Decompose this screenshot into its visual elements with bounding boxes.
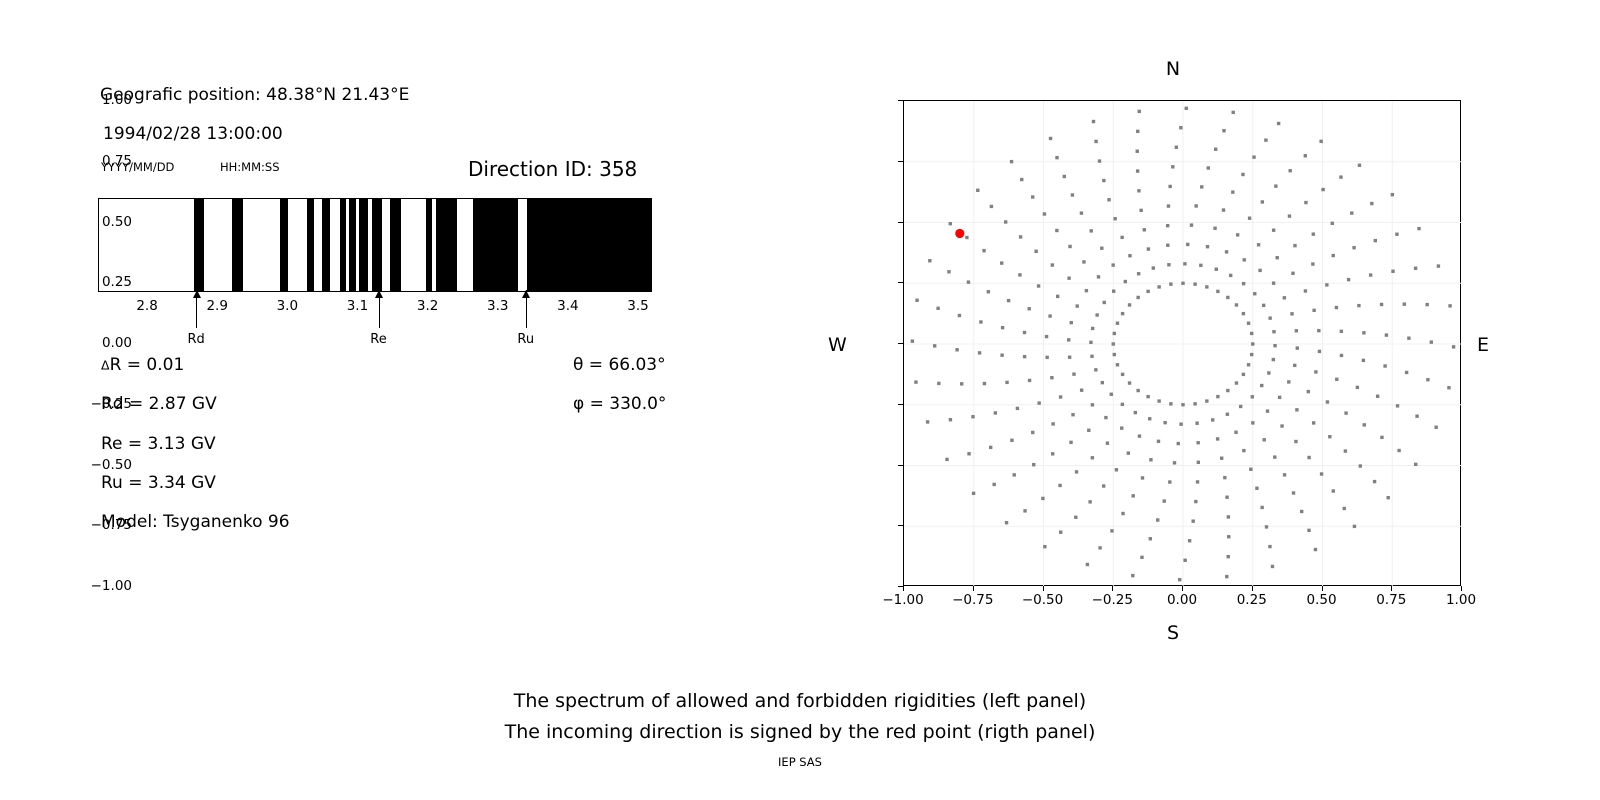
- direction-point: [1120, 426, 1123, 429]
- direction-point: [1304, 201, 1307, 204]
- direction-point: [1055, 156, 1058, 159]
- direction-point: [1137, 272, 1140, 275]
- direction-point: [1225, 575, 1228, 578]
- direction-point: [1018, 273, 1021, 276]
- direction-point: [1045, 335, 1048, 338]
- direction-point: [1251, 342, 1254, 345]
- direction-point: [1103, 301, 1106, 304]
- direction-point: [1426, 378, 1429, 381]
- direction-point: [1127, 451, 1130, 454]
- direction-point: [1247, 363, 1250, 366]
- direction-point: [1091, 327, 1094, 330]
- direction-point: [1307, 529, 1310, 532]
- direction-point: [1335, 306, 1338, 309]
- direction-point: [1186, 243, 1189, 246]
- direction-point: [1262, 438, 1265, 441]
- scatter-y-tick-label: −0.25: [91, 396, 132, 412]
- direction-point: [1136, 169, 1139, 172]
- direction-point: [1013, 473, 1016, 476]
- direction-point: [1143, 228, 1146, 231]
- direction-point: [1067, 338, 1070, 341]
- direction-point: [1205, 399, 1208, 402]
- direction-point: [976, 189, 979, 192]
- direction-point: [1146, 395, 1149, 398]
- direction-point: [1194, 204, 1197, 207]
- direction-point: [1448, 304, 1451, 307]
- scatter-y-tick-mark: [898, 465, 903, 466]
- direction-point: [1280, 424, 1283, 427]
- direction-point: [1116, 322, 1119, 325]
- scatter-y-tick-label: −1.00: [91, 578, 132, 594]
- direction-point: [1071, 193, 1074, 196]
- direction-point: [1185, 107, 1188, 110]
- direction-point: [1331, 222, 1334, 225]
- direction-point: [1227, 535, 1230, 538]
- direction-point: [1100, 247, 1103, 250]
- direction-point: [1136, 389, 1139, 392]
- direction-point: [1156, 518, 1159, 521]
- direction-point: [1140, 556, 1143, 559]
- direction-point: [1131, 494, 1134, 497]
- direction-point: [1343, 507, 1346, 510]
- direction-point: [1141, 476, 1144, 479]
- scatter-x-tick-mark: [903, 586, 904, 591]
- compass-west: W: [828, 334, 847, 356]
- direction-point: [1147, 247, 1150, 250]
- scatter-y-tick-mark: [898, 100, 903, 101]
- scatter-x-tick-mark: [1461, 586, 1462, 591]
- direction-point: [1314, 548, 1317, 551]
- direction-point: [1362, 331, 1365, 334]
- direction-point: [1166, 244, 1169, 247]
- direction-point: [1332, 489, 1335, 492]
- direction-point: [1417, 227, 1420, 230]
- direction-point: [1395, 233, 1398, 236]
- direction-point: [1414, 267, 1417, 270]
- direction-point: [1288, 169, 1291, 172]
- direction-point: [1101, 381, 1104, 384]
- direction-point: [1376, 395, 1379, 398]
- direction-point: [1175, 146, 1178, 149]
- direction-point: [1168, 185, 1171, 188]
- direction-point: [1167, 263, 1170, 266]
- scatter-y-tick-mark: [898, 525, 903, 526]
- scatter-x-tick-label: −0.75: [952, 592, 993, 608]
- direction-point: [1252, 155, 1255, 158]
- scatter-x-tick-mark: [1182, 586, 1183, 591]
- scatter-x-tick-mark: [1322, 586, 1323, 591]
- direction-point: [1171, 165, 1174, 168]
- scatter-canvas: [904, 101, 1462, 587]
- direction-point: [1251, 421, 1254, 424]
- direction-point: [1232, 111, 1235, 114]
- direction-point: [1157, 285, 1160, 288]
- direction-point: [1102, 179, 1105, 182]
- direction-point: [1005, 381, 1008, 384]
- direction-point: [1320, 472, 1323, 475]
- direction-point: [955, 348, 958, 351]
- direction-point: [1339, 175, 1342, 178]
- direction-point: [1274, 184, 1277, 187]
- direction-point: [1048, 314, 1051, 317]
- direction-point: [1085, 289, 1088, 292]
- direction-point: [978, 351, 981, 354]
- direction-point: [1226, 296, 1229, 299]
- direction-point: [1216, 290, 1219, 293]
- direction-point: [1205, 285, 1208, 288]
- direction-point: [1124, 280, 1127, 283]
- direction-point: [947, 270, 950, 273]
- scatter-y-tick-mark: [898, 222, 903, 223]
- direction-point: [1293, 364, 1296, 367]
- direction-point: [1206, 245, 1209, 248]
- direction-point: [1045, 356, 1048, 359]
- direction-point: [1216, 395, 1219, 398]
- direction-point: [1312, 421, 1315, 424]
- direction-point: [1031, 195, 1034, 198]
- direction-point: [1363, 423, 1366, 426]
- direction-point: [1258, 269, 1261, 272]
- direction-point: [1179, 422, 1182, 425]
- direction-point: [1225, 250, 1228, 253]
- direction-point: [1113, 332, 1116, 335]
- direction-point: [1325, 283, 1328, 286]
- direction-point: [1070, 321, 1073, 324]
- direction-point: [1098, 159, 1101, 162]
- direction-point: [1272, 228, 1275, 231]
- direction-point: [1168, 480, 1171, 483]
- direction-point: [1227, 515, 1230, 518]
- direction-point: [1177, 442, 1180, 445]
- direction-point: [1283, 296, 1286, 299]
- direction-point: [1278, 396, 1281, 399]
- direction-point: [1292, 491, 1295, 494]
- direction-point: [1222, 208, 1225, 211]
- direction-point: [1231, 190, 1234, 193]
- direction-point: [1193, 402, 1196, 405]
- direction-point: [1374, 239, 1377, 242]
- direction-point: [1023, 355, 1026, 358]
- direction-point: [1181, 403, 1184, 406]
- direction-point: [1304, 154, 1307, 157]
- direction-point: [1112, 342, 1115, 345]
- scatter-x-tick-label: −0.50: [1022, 592, 1063, 608]
- direction-point: [1312, 309, 1315, 312]
- direction-point: [1094, 140, 1097, 143]
- direction-point: [1396, 404, 1399, 407]
- direction-point: [1032, 463, 1035, 466]
- direction-point: [1319, 140, 1322, 143]
- direction-point: [1267, 371, 1270, 374]
- scatter-x-tick-mark: [1112, 586, 1113, 591]
- caption-line-2: The incoming direction is signed by the …: [0, 717, 1600, 748]
- scatter-x-tick-label: −1.00: [882, 592, 923, 608]
- direction-point: [1097, 275, 1100, 278]
- direction-point: [1350, 211, 1353, 214]
- direction-point: [1068, 245, 1071, 248]
- direction-point: [1340, 354, 1343, 357]
- direction-point: [1307, 390, 1310, 393]
- direction-point: [967, 280, 970, 283]
- direction-point: [1023, 509, 1026, 512]
- direction-point: [1136, 296, 1139, 299]
- direction-point: [1107, 198, 1110, 201]
- direction-point: [1069, 441, 1072, 444]
- direction-point: [1391, 193, 1394, 196]
- direction-point: [992, 483, 995, 486]
- direction-point: [1314, 370, 1317, 373]
- direction-point: [1385, 333, 1388, 336]
- direction-point: [1290, 312, 1293, 315]
- direction-point: [1169, 402, 1172, 405]
- direction-point: [971, 415, 974, 418]
- direction-point: [1359, 464, 1362, 467]
- direction-point: [1016, 407, 1019, 410]
- direction-point: [1199, 264, 1202, 267]
- direction-point: [1373, 480, 1376, 483]
- direction-scatter-plot: [903, 100, 1461, 586]
- direction-point: [1357, 304, 1360, 307]
- direction-point: [1058, 484, 1061, 487]
- direction-point: [1092, 120, 1095, 123]
- direction-point: [1311, 262, 1314, 265]
- direction-point: [1264, 138, 1267, 141]
- scatter-x-tick-label: −0.25: [1092, 592, 1133, 608]
- direction-point: [1248, 217, 1251, 220]
- direction-point: [1239, 405, 1242, 408]
- direction-point: [1261, 200, 1264, 203]
- direction-point: [1131, 574, 1134, 577]
- direction-point: [949, 222, 952, 225]
- direction-point: [1215, 268, 1218, 271]
- incoming-direction-point: [955, 229, 964, 238]
- direction-point: [1088, 500, 1091, 503]
- direction-point: [1113, 217, 1116, 220]
- direction-point: [1041, 497, 1044, 500]
- direction-point: [945, 458, 948, 461]
- direction-point: [1216, 437, 1219, 440]
- direction-point: [1452, 345, 1455, 348]
- direction-point: [1211, 418, 1214, 421]
- direction-point: [1076, 304, 1079, 307]
- direction-point: [1260, 506, 1263, 509]
- direction-point: [1430, 340, 1433, 343]
- direction-point: [1090, 229, 1093, 232]
- direction-point: [1181, 282, 1184, 285]
- direction-point: [1087, 429, 1090, 432]
- direction-point: [1196, 480, 1199, 483]
- direction-point: [1010, 439, 1013, 442]
- direction-point: [914, 380, 917, 383]
- compass-south: S: [1167, 622, 1179, 644]
- direction-point: [1222, 129, 1225, 132]
- scatter-y-tick-mark: [898, 161, 903, 162]
- direction-point: [1271, 565, 1274, 568]
- direction-point: [1200, 185, 1203, 188]
- direction-point: [1188, 539, 1191, 542]
- direction-point: [1358, 164, 1361, 167]
- direction-point: [1257, 243, 1260, 246]
- direction-point: [1288, 214, 1291, 217]
- direction-point: [1136, 150, 1139, 153]
- direction-point: [1227, 555, 1230, 558]
- caption-line-1: The spectrum of allowed and forbidden ri…: [0, 686, 1600, 717]
- direction-point: [1318, 350, 1321, 353]
- direction-point: [1055, 229, 1058, 232]
- direction-point: [1250, 353, 1253, 356]
- scatter-x-tick-label: 0.75: [1376, 592, 1406, 608]
- direction-point: [1051, 452, 1054, 455]
- direction-point: [1121, 403, 1124, 406]
- direction-point: [1050, 376, 1053, 379]
- direction-point: [1121, 312, 1124, 315]
- direction-point: [1255, 487, 1258, 490]
- direction-point: [1031, 431, 1034, 434]
- scatter-y-tick-label: 0.25: [102, 274, 132, 290]
- direction-point: [1121, 373, 1124, 376]
- scatter-y-tick-label: 0.75: [102, 153, 132, 169]
- direction-point: [1213, 227, 1216, 230]
- direction-point: [1242, 449, 1245, 452]
- direction-point: [1169, 282, 1172, 285]
- direction-point: [1110, 529, 1113, 532]
- direction-point: [1071, 413, 1074, 416]
- direction-point: [1020, 178, 1023, 181]
- direction-point: [1193, 282, 1196, 285]
- direction-point: [1000, 261, 1003, 264]
- direction-point: [1235, 381, 1238, 384]
- direction-point: [1414, 463, 1417, 466]
- direction-point: [1098, 546, 1101, 549]
- direction-point: [1335, 378, 1338, 381]
- scatter-y-tick-label: 0.50: [102, 214, 132, 230]
- direction-point: [1094, 368, 1097, 371]
- direction-point: [1090, 355, 1093, 358]
- direction-point: [1370, 202, 1373, 205]
- direction-point: [1391, 270, 1394, 273]
- direction-point: [1283, 473, 1286, 476]
- direction-point: [1120, 236, 1123, 239]
- direction-point: [1080, 211, 1083, 214]
- direction-point: [1157, 440, 1160, 443]
- direction-point: [1089, 341, 1092, 344]
- direction-point: [1080, 388, 1083, 391]
- direction-point: [1247, 322, 1250, 325]
- direction-point: [915, 299, 918, 302]
- scatter-y-tick-mark: [898, 282, 903, 283]
- direction-point: [1067, 276, 1070, 279]
- direction-point: [1415, 415, 1418, 418]
- scatter-y-tick-label: −0.50: [91, 457, 132, 473]
- compass-east: E: [1477, 334, 1489, 356]
- direction-point: [1312, 232, 1315, 235]
- direction-point: [1128, 254, 1131, 257]
- direction-point: [1059, 395, 1062, 398]
- direction-point: [1425, 303, 1428, 306]
- asymptotic-directions-panel: N S W E −1.00−0.75−0.50−0.250.000.250.50…: [0, 0, 1600, 620]
- direction-point: [1273, 455, 1276, 458]
- direction-point: [960, 382, 963, 385]
- scatter-y-tick-mark: [898, 343, 903, 344]
- direction-point: [1146, 290, 1149, 293]
- scatter-x-tick-label: 1.00: [1446, 592, 1476, 608]
- direction-point: [1004, 220, 1007, 223]
- direction-point: [1138, 434, 1141, 437]
- direction-point: [936, 307, 939, 310]
- direction-point: [1380, 303, 1383, 306]
- direction-point: [1434, 426, 1437, 429]
- direction-point: [1214, 148, 1217, 151]
- direction-point: [1051, 422, 1054, 425]
- direction-point: [1265, 525, 1268, 528]
- direction-point: [1115, 468, 1118, 471]
- direction-point: [1068, 356, 1071, 359]
- direction-point: [1300, 510, 1303, 513]
- direction-point: [965, 236, 968, 239]
- direction-point: [1304, 289, 1307, 292]
- direction-point: [1106, 442, 1109, 445]
- direction-point: [1317, 329, 1320, 332]
- direction-point: [1037, 401, 1040, 404]
- direction-point: [1307, 456, 1310, 459]
- direction-point: [967, 452, 970, 455]
- direction-point: [1139, 209, 1142, 212]
- direction-point: [1397, 449, 1400, 452]
- direction-point: [1295, 408, 1298, 411]
- direction-point: [1236, 233, 1239, 236]
- scatter-x-tick-mark: [1391, 586, 1392, 591]
- direction-point: [987, 290, 990, 293]
- direction-point: [1010, 160, 1013, 163]
- direction-point: [1276, 256, 1279, 259]
- direction-point: [1294, 440, 1297, 443]
- scatter-x-tick-label: 0.50: [1306, 592, 1336, 608]
- direction-point: [1091, 456, 1094, 459]
- direction-point: [1074, 516, 1077, 519]
- direction-point: [1272, 281, 1275, 284]
- direction-point: [1148, 417, 1151, 420]
- direction-point: [1273, 344, 1276, 347]
- direction-point: [1152, 266, 1155, 269]
- direction-point: [1149, 458, 1152, 461]
- direction-point: [1043, 545, 1046, 548]
- direction-point: [1007, 299, 1010, 302]
- direction-point: [1051, 263, 1054, 266]
- direction-point: [1287, 380, 1290, 383]
- direction-point: [1260, 384, 1263, 387]
- direction-point: [994, 411, 997, 414]
- scatter-x-tick-mark: [973, 586, 974, 591]
- direction-point: [1225, 496, 1228, 499]
- direction-point: [1268, 545, 1271, 548]
- direction-point: [1353, 525, 1356, 528]
- scatter-x-tick-mark: [1252, 586, 1253, 591]
- scatter-x-tick-label: 0.00: [1167, 592, 1197, 608]
- direction-point: [1272, 358, 1275, 361]
- direction-point: [979, 320, 982, 323]
- direction-point: [911, 339, 914, 342]
- figure-caption: The spectrum of allowed and forbidden ri…: [0, 686, 1600, 748]
- direction-point: [1383, 364, 1386, 367]
- direction-point: [1220, 457, 1223, 460]
- direction-point: [1023, 331, 1026, 334]
- direction-point: [1086, 563, 1089, 566]
- direction-point: [1063, 175, 1066, 178]
- direction-point: [1157, 399, 1160, 402]
- direction-point: [1163, 421, 1166, 424]
- direction-point: [1197, 461, 1200, 464]
- direction-point: [1195, 422, 1198, 425]
